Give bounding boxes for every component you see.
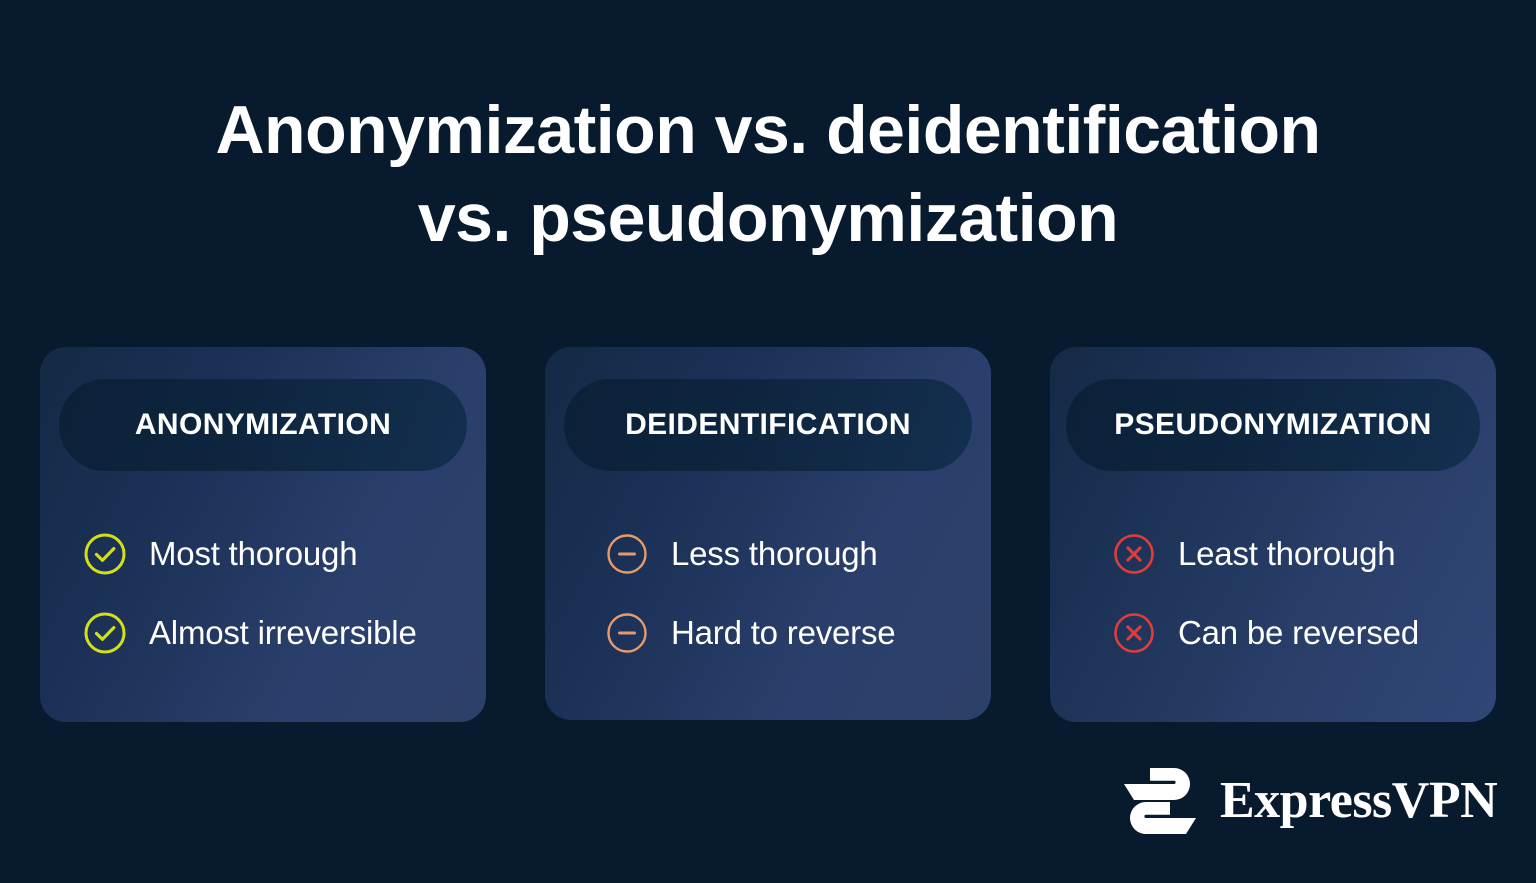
card-heading: PSEUDONYMIZATION: [1114, 408, 1432, 442]
list-item-label: Hard to reverse: [671, 614, 895, 652]
cross-circle-icon: [1112, 611, 1156, 655]
card-heading: ANONYMIZATION: [135, 408, 391, 442]
list-item: Most thorough: [83, 532, 462, 576]
list-item-label: Least thorough: [1178, 535, 1395, 573]
check-circle-icon: [83, 611, 127, 655]
cross-circle-icon: [1112, 532, 1156, 576]
page-title: Anonymization vs. deidentification vs. p…: [0, 86, 1536, 262]
list-item-label: Almost irreversible: [149, 614, 417, 652]
card-heading: DEIDENTIFICATION: [625, 408, 911, 442]
list-item-label: Can be reversed: [1178, 614, 1419, 652]
comparison-cards-row: ANONYMIZATION Most thorough Almost irrev…: [40, 347, 1496, 722]
card-feature-list-anonymization: Most thorough Almost irreversible: [83, 532, 462, 655]
list-item: Hard to reverse: [605, 611, 967, 655]
list-item: Can be reversed: [1112, 611, 1472, 655]
expressvpn-logo: ExpressVPN: [1122, 766, 1497, 836]
card-feature-list-deidentification: Less thorough Hard to reverse: [605, 532, 967, 655]
list-item-label: Less thorough: [671, 535, 878, 573]
card-deidentification: DEIDENTIFICATION Less thorough Hard to r…: [545, 347, 991, 720]
page-title-line-2: vs. pseudonymization: [0, 174, 1536, 262]
minus-circle-icon: [605, 532, 649, 576]
card-feature-list-pseudonymization: Least thorough Can be reversed: [1112, 532, 1472, 655]
card-header-pill-anonymization: ANONYMIZATION: [59, 379, 467, 471]
list-item-label: Most thorough: [149, 535, 357, 573]
list-item: Less thorough: [605, 532, 967, 576]
expressvpn-wordmark: ExpressVPN: [1220, 775, 1497, 827]
check-circle-icon: [83, 532, 127, 576]
card-anonymization: ANONYMIZATION Most thorough Almost irrev…: [40, 347, 486, 722]
list-item: Least thorough: [1112, 532, 1472, 576]
card-pseudonymization: PSEUDONYMIZATION Least thorough Can be r…: [1050, 347, 1496, 722]
minus-circle-icon: [605, 611, 649, 655]
card-header-pill-pseudonymization: PSEUDONYMIZATION: [1066, 379, 1480, 471]
list-item: Almost irreversible: [83, 611, 462, 655]
page-title-line-1: Anonymization vs. deidentification: [0, 86, 1536, 174]
expressvpn-e-mark-icon: [1122, 766, 1198, 836]
card-header-pill-deidentification: DEIDENTIFICATION: [564, 379, 972, 471]
